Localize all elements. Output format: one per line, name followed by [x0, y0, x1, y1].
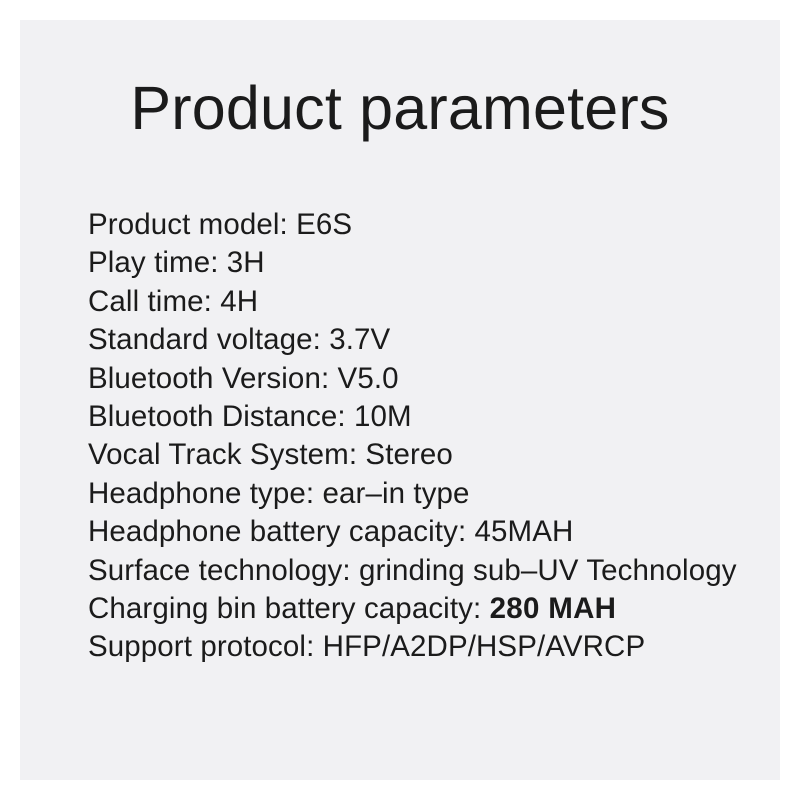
list-item: Standard voltage: 3.7V — [88, 321, 788, 359]
spec-text: Product model: E6S — [88, 208, 352, 241]
product-parameters-card: Product parameters Product model: E6S Pl… — [20, 20, 780, 780]
list-item: Vocal Track System: Stereo — [88, 436, 788, 474]
list-item: Product model: E6S — [88, 206, 788, 244]
list-item: Bluetooth Distance: 10M — [88, 398, 788, 436]
list-item: Headphone type: ear–in type — [88, 475, 788, 513]
list-item: Headphone battery capacity: 45MAH — [88, 513, 788, 551]
list-item: Bluetooth Version: V5.0 — [88, 360, 788, 398]
spec-text: Vocal Track System: Stereo — [88, 438, 453, 471]
spec-text: Headphone battery capacity: 45MAH — [88, 515, 573, 548]
spec-text: Play time: 3H — [88, 246, 265, 279]
spec-text: Surface technology: grinding sub–UV Tech… — [88, 554, 737, 587]
spec-text: Call time: 4H — [88, 285, 258, 318]
spec-value: 280 MAH — [490, 592, 617, 625]
list-item: Surface technology: grinding sub–UV Tech… — [88, 552, 788, 590]
list-item: Call time: 4H — [88, 283, 788, 321]
list-item: Support protocol: HFP/A2DP/HSP/AVRCP — [88, 628, 788, 666]
spec-text: Headphone type: ear–in type — [88, 477, 470, 510]
spec-text: Bluetooth Version: V5.0 — [88, 362, 399, 395]
spec-text: Support protocol: HFP/A2DP/HSP/AVRCP — [88, 630, 645, 663]
spec-label: Charging bin battery capacity: — [88, 592, 490, 625]
page-title: Product parameters — [20, 78, 780, 139]
specification-list: Product model: E6S Play time: 3H Call ti… — [88, 206, 788, 667]
spec-text: Standard voltage: 3.7V — [88, 323, 390, 356]
spec-text: Bluetooth Distance: 10M — [88, 400, 412, 433]
list-item: Play time: 3H — [88, 244, 788, 282]
list-item: Charging bin battery capacity: 280 MAH — [88, 590, 788, 628]
